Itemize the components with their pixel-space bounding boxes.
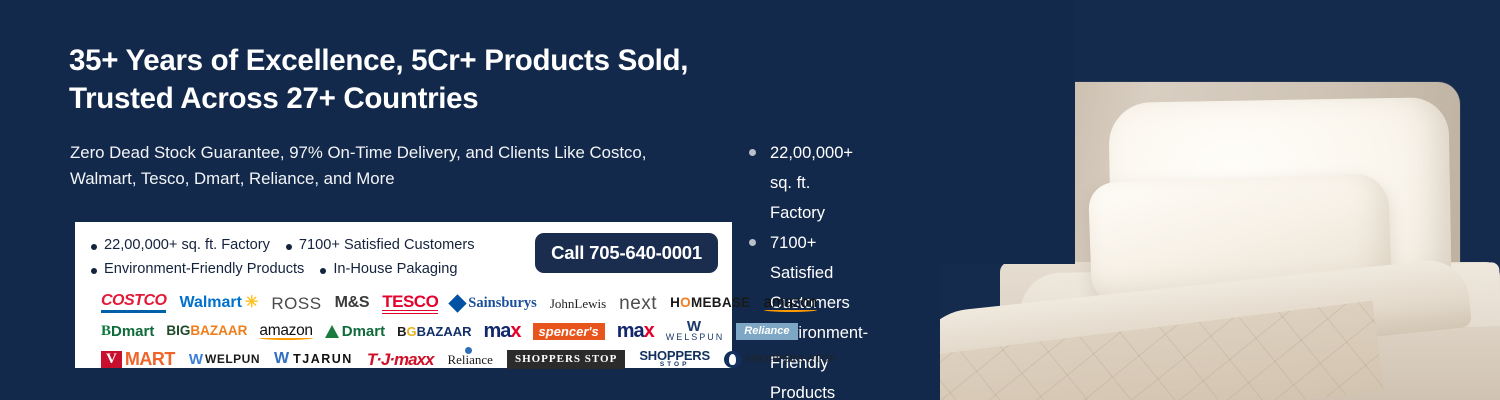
max2-ma: ma xyxy=(617,321,644,341)
dmart-b-mark: B xyxy=(101,324,111,339)
shoppers-stop-box-logo: SHOPPERS STOP xyxy=(507,350,625,369)
bz-b: B xyxy=(397,325,406,338)
amazon-logo-2: amazon xyxy=(259,323,312,340)
dmart-triangle-icon xyxy=(325,325,339,338)
card-bullet: 7100+ Satisfied Customers xyxy=(284,237,475,253)
homebase-o: O xyxy=(680,296,691,310)
amazon-logo: amazon xyxy=(764,295,817,312)
max-logo-2: max xyxy=(617,321,654,341)
welpun-logo: W WELPUN xyxy=(189,352,260,367)
sainsburys-wordmark: Sainsburys xyxy=(468,296,537,311)
shoppers-stop-blue-logo: SHOPPERS STOP xyxy=(639,349,710,369)
tj-maxx-logo: T·J·maxx xyxy=(367,351,434,368)
max-logo: max xyxy=(484,321,521,341)
card-bullet: In-House Pakaging xyxy=(318,261,457,277)
logo-row-2: B Dmart BIG BAZAAR amazon Dmart BGBAZAAR… xyxy=(89,317,718,345)
dmart-bharat-logo: B Dmart xyxy=(101,324,154,339)
costco-wordmark: COSTCO xyxy=(101,293,166,313)
homebase-h: H xyxy=(670,296,680,310)
reliance-trends-logo: Reliance xyxy=(736,323,797,340)
list-item: 22,00,000+ sq. ft. Factory xyxy=(745,138,868,228)
welspun-wordmark: WELSPUN xyxy=(666,332,725,342)
card-bullets: 22,00,000+ sq. ft. Factory 7100+ Satisfi… xyxy=(89,231,535,281)
hero-subtitle: Zero Dead Stock Guarantee, 97% On-Time D… xyxy=(70,140,710,191)
homebase-logo: HOMEBASE xyxy=(670,296,750,310)
welpun-wordmark: WELPUN xyxy=(205,353,260,365)
reliance-logo: Reliance xyxy=(447,353,492,366)
card-header: 22,00,000+ sq. ft. Factory 7100+ Satisfi… xyxy=(89,231,718,281)
reliance-dot-icon xyxy=(465,347,472,354)
card-bullet-row: 22,00,000+ sq. ft. Factory 7100+ Satisfi… xyxy=(89,233,535,257)
spencers-logo: spencer's xyxy=(533,323,605,340)
amazon-wordmark-2: amazon xyxy=(259,322,312,339)
walmart-wordmark: Walmart xyxy=(179,295,242,311)
welspun-w-icon: W xyxy=(666,320,725,334)
next-logo: next xyxy=(619,294,657,313)
card-bullet: Environment-Friendly Products xyxy=(89,261,304,277)
ss-blue-block: SHOPPERS STOP xyxy=(639,349,710,369)
dmart-wordmark: Dmart xyxy=(111,324,154,339)
reliance-text: Reliance xyxy=(447,352,492,367)
bigbazaar-alt-logo: BGBAZAAR xyxy=(397,325,471,338)
amazon-wordmark: amazon xyxy=(764,294,817,311)
vmart-wordmark: MART xyxy=(125,350,175,368)
shoppers-stop-circle-logo: SHOPPERS STOP xyxy=(724,351,837,368)
welspun-logo: W WELSPUN xyxy=(666,320,725,343)
card-bullet: 22,00,000+ sq. ft. Factory xyxy=(89,237,270,253)
call-button[interactable]: Call 705-640-0001 xyxy=(535,233,718,273)
max-x: x xyxy=(510,321,520,341)
page-title: 35+ Years of Excellence, 5Cr+ Products S… xyxy=(69,42,769,118)
avenue-dmart-logo: Dmart xyxy=(325,324,385,339)
bz-bazaar: BAZAAR xyxy=(417,325,472,338)
shoppers-stop-circle-icon xyxy=(724,351,741,368)
vmart-logo: V MART xyxy=(101,350,175,368)
tesco-wordmark: TESCO xyxy=(382,293,438,314)
tjarun-w-icon: W xyxy=(274,351,289,367)
marks-and-spencer-logo: M&S xyxy=(335,295,370,311)
reliance-wordmark: Reliance xyxy=(447,353,492,366)
tesco-logo: TESCO xyxy=(382,293,438,314)
bigbazaar-bazaar: BAZAAR xyxy=(190,324,247,338)
ross-logo: ROSS xyxy=(271,295,321,312)
big-bazaar-logo: BIG BAZAAR xyxy=(166,324,247,338)
welspun-block: W WELSPUN xyxy=(666,320,725,343)
homebase-rest: MEBASE xyxy=(691,296,751,310)
tjarun-logo: W TJARUN xyxy=(274,351,353,367)
logo-row-3: V MART W WELPUN W TJARUN T·J·maxx Relian… xyxy=(89,345,718,373)
avenue-dmart-wordmark: Dmart xyxy=(342,324,385,339)
logo-row-1: COSTCO Walmart ✳ ROSS M&S TESCO Sainsbur… xyxy=(89,289,718,317)
max2-x: x xyxy=(644,321,654,341)
bigbazaar-big: BIG xyxy=(166,324,190,338)
vmart-v-icon: V xyxy=(101,351,122,368)
walmart-logo: Walmart ✳ xyxy=(179,295,258,311)
card-bullet-row: Environment-Friendly Products In-House P… xyxy=(89,257,535,281)
sainsburys-diamond-icon xyxy=(449,294,467,312)
sainsburys-logo: Sainsburys xyxy=(451,296,537,311)
costco-logo: COSTCO xyxy=(101,293,166,313)
ss-circle-wordmark: SHOPPERS STOP xyxy=(745,354,837,365)
tjarun-wordmark: TJARUN xyxy=(293,353,353,366)
welpun-w-icon: W xyxy=(189,352,203,367)
bz-g: G xyxy=(406,325,416,338)
max-ma: ma xyxy=(484,321,511,341)
walmart-spark-icon: ✳ xyxy=(245,295,258,311)
john-lewis-logo: JohnLewis xyxy=(550,297,606,310)
clients-card: 22,00,000+ sq. ft. Factory 7100+ Satisfi… xyxy=(75,222,732,368)
